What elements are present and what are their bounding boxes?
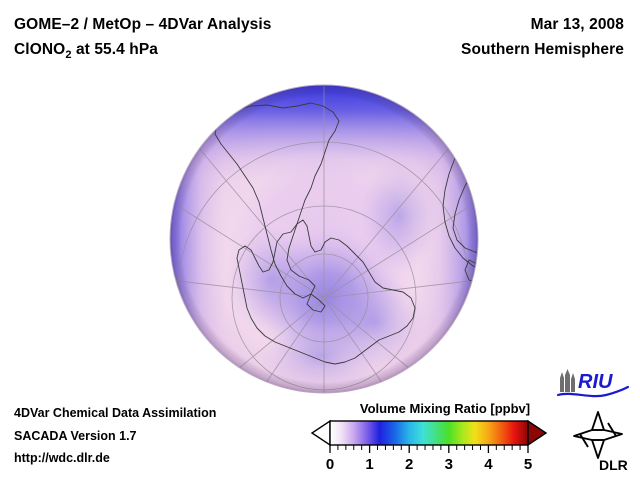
species-pressure-suffix: at 55.4 hPa bbox=[72, 41, 159, 58]
globe-map bbox=[163, 84, 485, 394]
colorbar-tick-5: 5 bbox=[524, 456, 532, 473]
coastline-australia-fragment bbox=[195, 376, 237, 392]
colorbar-block: Volume Mixing Ratio [ppbv] bbox=[300, 401, 560, 477]
colorbar-cap-low bbox=[312, 421, 330, 445]
globe-rim-shading bbox=[170, 85, 478, 393]
dlr-logo: DLR bbox=[566, 410, 630, 472]
riu-wordmark: RIU bbox=[578, 371, 613, 393]
colorbar-ticks bbox=[330, 445, 528, 453]
website-url[interactable]: http://wdc.dlr.de bbox=[14, 447, 216, 470]
riu-towers-icon bbox=[560, 369, 575, 392]
assimilation-label: 4DVar Chemical Data Assimilation bbox=[14, 402, 216, 425]
colorbar-tick-3: 3 bbox=[445, 456, 453, 473]
colorbar-tick-0: 0 bbox=[326, 456, 334, 473]
colorbar-gradient bbox=[330, 421, 528, 445]
version-label: SACADA Version 1.7 bbox=[14, 425, 216, 448]
colorbar-tick-2: 2 bbox=[405, 456, 413, 473]
date-label: Mar 13, 2008 bbox=[324, 12, 624, 37]
colorbar-cap-high bbox=[528, 421, 546, 445]
header-right-block: Mar 13, 2008 Southern Hemisphere bbox=[324, 12, 624, 62]
hemisphere-label: Southern Hemisphere bbox=[324, 37, 624, 62]
colorbar-title: Volume Mixing Ratio [ppbv] bbox=[320, 401, 570, 416]
colorbar-tick-labels: 0 1 2 3 4 5 bbox=[326, 456, 532, 473]
dlr-wordmark: DLR bbox=[599, 457, 628, 472]
footer-left-block: 4DVar Chemical Data Assimilation SACADA … bbox=[14, 402, 216, 470]
dlr-pinwheel-icon bbox=[574, 412, 622, 458]
riu-logo: RIU bbox=[556, 368, 630, 400]
colorbar-tick-1: 1 bbox=[365, 456, 373, 473]
species-formula-prefix: ClONO bbox=[14, 41, 65, 58]
colorbar-tick-4: 4 bbox=[484, 456, 493, 473]
globe-field bbox=[163, 84, 485, 394]
